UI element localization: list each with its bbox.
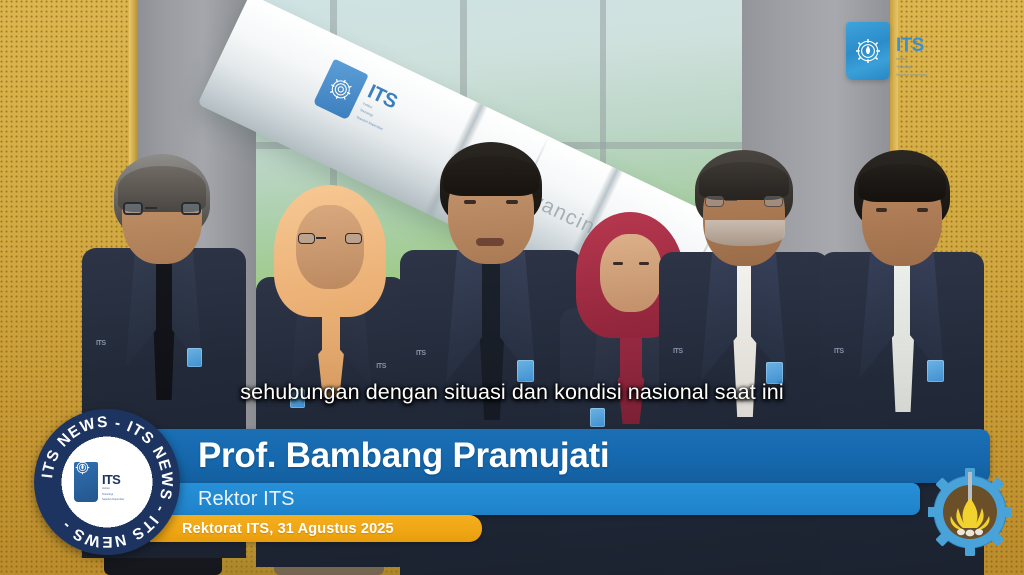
- eyeglasses: [298, 233, 362, 247]
- its-news-badge: ITS NEWS - ITS NEWS - ITS NEWS - IT: [34, 409, 180, 555]
- person-5-blazer: ITS: [659, 252, 829, 575]
- uniform-its-mark: ITS: [416, 350, 426, 357]
- lower-third-date-bar: Rektorat ITS, 31 Agustus 2025: [150, 515, 482, 542]
- wall-sign-tagline-3: Sepuluh Nopember: [896, 73, 927, 79]
- uniform-its-mark: ITS: [376, 363, 386, 370]
- badge-logo-tagline-2: Teknologi: [102, 493, 124, 497]
- uniform-logo-patch: [187, 348, 202, 367]
- its-shield-icon: [74, 462, 98, 502]
- broadcast-frame: ITS Institut Teknologi Sepuluh Nopember …: [0, 0, 1024, 575]
- wall-its-sign: ITS Institut Teknologi Sepuluh Nopember: [846, 22, 927, 80]
- wall-sign-wordmark: ITS: [896, 36, 927, 55]
- location-date: Rektorat ITS, 31 Agustus 2025: [150, 521, 394, 537]
- badge-logo-wordmark: ITS: [102, 473, 124, 486]
- uniform-logo-patch: [590, 408, 605, 427]
- its-gear-emblem: [928, 468, 1012, 560]
- uniform-logo-patch: [517, 360, 534, 382]
- lower-third-name-bar: Prof. Bambang Pramujati: [150, 429, 990, 483]
- its-shield-icon: [846, 22, 890, 80]
- eyeglasses: [705, 196, 783, 211]
- eyeglasses: [123, 202, 201, 218]
- uniform-its-mark: ITS: [673, 348, 683, 355]
- wall-sign-tagline-2: Teknologi: [896, 65, 927, 71]
- lower-third-role-bar: Rektor ITS: [150, 483, 920, 515]
- badge-logo-tagline-1: Institut: [102, 487, 124, 491]
- rocket-its-logo: ITS Institut Teknologi Sepuluh Nopember: [313, 59, 402, 136]
- uniform-its-mark: ITS: [96, 340, 106, 347]
- uniform-logo-patch: [927, 360, 944, 382]
- badge-its-logo: ITS Institut Teknologi Sepuluh Nopember: [74, 459, 140, 505]
- uniform-its-mark: ITS: [834, 348, 844, 355]
- speaker-name: Prof. Bambang Pramujati: [150, 436, 609, 476]
- wall-sign-tagline-1: Institut: [896, 57, 927, 63]
- badge-logo-tagline-3: Sepuluh Nopember: [102, 498, 124, 502]
- subtitle-caption: sehubungan dengan situasi dan kondisi na…: [0, 380, 1024, 405]
